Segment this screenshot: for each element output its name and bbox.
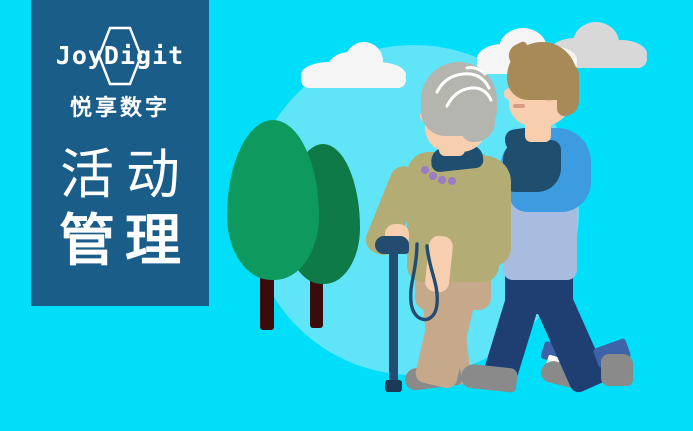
logo-wordmark: JoyDigit <box>45 36 195 76</box>
cane-tip <box>385 380 402 392</box>
walking-cane <box>209 0 693 431</box>
page-title-line2: 管理 <box>31 208 209 274</box>
logo-chinese-name: 悦享数字 <box>70 90 170 122</box>
cane-shaft <box>389 252 398 384</box>
cane-handle <box>375 236 409 254</box>
page-title-line1: 活动 <box>31 144 209 208</box>
cane-strap-loop <box>405 240 451 348</box>
poster-canvas: JoyDigit 悦享数字 活动 管理 <box>0 0 693 431</box>
brand-logo: JoyDigit <box>45 26 195 88</box>
title-panel: JoyDigit 悦享数字 活动 管理 <box>31 0 209 306</box>
illustration <box>209 0 693 431</box>
page-title: 活动 管理 <box>31 144 209 274</box>
